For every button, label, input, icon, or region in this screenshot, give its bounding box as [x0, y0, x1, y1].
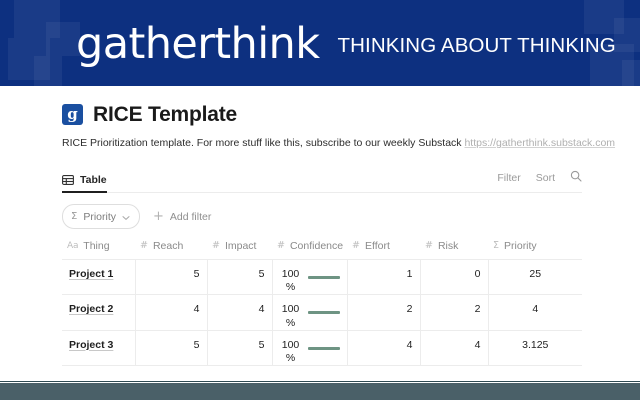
column-header-risk[interactable]: # Risk — [420, 240, 488, 260]
filter-bar: Σ Priority + Add filter — [62, 204, 582, 229]
risk-value: 4 — [428, 331, 481, 351]
filter-button[interactable]: Filter — [497, 172, 520, 184]
cell-risk[interactable]: 0 — [420, 260, 488, 295]
cell-confidence[interactable]: 100 % — [272, 330, 347, 365]
confidence-value: 100 % — [280, 268, 302, 294]
cell-priority[interactable]: 4 — [488, 295, 582, 330]
plus-icon: + — [153, 210, 164, 223]
column-header-priority[interactable]: Σ Priority — [488, 240, 582, 260]
cell-thing[interactable]: Project 1 — [62, 260, 135, 295]
risk-value: 2 — [428, 295, 481, 315]
cell-effort[interactable]: 4 — [347, 330, 420, 365]
column-header-effort[interactable]: # Effort — [347, 240, 420, 260]
footer-bar — [0, 383, 640, 400]
risk-value: 0 — [428, 260, 481, 280]
effort-value: 1 — [355, 260, 413, 280]
substack-link[interactable]: https://gatherthink.substack.com — [464, 137, 615, 149]
confidence-bar-track — [308, 303, 340, 314]
thing-link[interactable]: Project 2 — [69, 295, 128, 315]
thing-link[interactable]: Project 3 — [69, 331, 128, 351]
tab-table[interactable]: Table — [62, 174, 107, 193]
cell-confidence[interactable]: 100 % — [272, 260, 347, 295]
table-row[interactable]: Project 1 5 5 100 % — [62, 260, 582, 295]
table-row[interactable]: Project 3 5 5 100 % — [62, 330, 582, 365]
view-tabs: Table — [62, 173, 107, 192]
impact-value: 5 — [215, 331, 265, 351]
reach-value: 5 — [143, 331, 200, 351]
text-type-icon: Aa — [67, 242, 78, 251]
column-header-impact[interactable]: # Impact — [207, 240, 272, 260]
column-header-reach[interactable]: # Reach — [135, 240, 207, 260]
priority-value: 25 — [496, 260, 576, 280]
cell-thing[interactable]: Project 3 — [62, 330, 135, 365]
priority-value: 3.125 — [496, 331, 576, 351]
thing-link[interactable]: Project 1 — [69, 260, 128, 280]
cell-risk[interactable]: 4 — [420, 330, 488, 365]
cell-impact[interactable]: 5 — [207, 260, 272, 295]
rice-table: Aa Thing # Reach # Impact — [62, 240, 582, 366]
column-label: Confidence — [290, 240, 343, 252]
sort-button[interactable]: Sort — [536, 172, 555, 184]
confidence-value: 100 % — [280, 303, 302, 329]
cell-impact[interactable]: 4 — [207, 295, 272, 330]
page-root: gatherthink THINKING ABOUT THINKING g RI… — [0, 0, 640, 400]
cell-reach[interactable]: 5 — [135, 330, 207, 365]
number-type-icon: # — [140, 241, 148, 251]
table-header-row: Aa Thing # Reach # Impact — [62, 240, 582, 260]
cell-effort[interactable]: 2 — [347, 295, 420, 330]
table-header: Aa Thing # Reach # Impact — [62, 240, 582, 260]
confidence-bar-track — [308, 339, 340, 350]
gatherthink-logo-icon: g — [62, 104, 83, 125]
toolbar-actions: Filter Sort — [497, 169, 582, 192]
filter-chip-label: Priority — [83, 211, 116, 223]
impact-value: 5 — [215, 260, 265, 280]
page-title: RICE Template — [93, 104, 237, 125]
number-type-icon: # — [352, 241, 360, 251]
reach-value: 4 — [143, 295, 200, 315]
sigma-icon: Σ — [71, 212, 77, 222]
column-header-thing[interactable]: Aa Thing — [62, 240, 135, 260]
brand-tagline: THINKING ABOUT THINKING — [338, 34, 616, 58]
view-toolbar: Table Filter Sort — [62, 167, 582, 193]
impact-value: 4 — [215, 295, 265, 315]
page-title-row: g RICE Template — [62, 104, 582, 125]
chevron-down-icon — [122, 208, 130, 226]
confidence-bar-fill — [308, 347, 340, 350]
column-label: Impact — [225, 240, 257, 252]
confidence-bar-track — [308, 268, 340, 279]
cell-effort[interactable]: 1 — [347, 260, 420, 295]
effort-value: 4 — [355, 331, 413, 351]
number-type-icon: # — [212, 241, 220, 251]
column-label: Reach — [153, 240, 183, 252]
reach-value: 5 — [143, 260, 200, 280]
confidence-bar-fill — [308, 276, 340, 279]
site-banner: gatherthink THINKING ABOUT THINKING — [0, 0, 640, 86]
cell-priority[interactable]: 25 — [488, 260, 582, 295]
add-filter-button[interactable]: + Add filter — [153, 210, 211, 223]
confidence-value: 100 % — [280, 339, 302, 365]
effort-value: 2 — [355, 295, 413, 315]
page-description: RICE Prioritization template. For more s… — [62, 136, 582, 150]
filter-chip-priority[interactable]: Σ Priority — [62, 204, 140, 229]
cell-impact[interactable]: 5 — [207, 330, 272, 365]
table-body: Project 1 5 5 100 % — [62, 260, 582, 366]
cell-priority[interactable]: 3.125 — [488, 330, 582, 365]
page-description-text: RICE Prioritization template. For more s… — [62, 137, 464, 149]
footer-divider — [0, 381, 640, 382]
column-label: Effort — [365, 240, 390, 252]
add-filter-label: Add filter — [170, 211, 211, 223]
table-row[interactable]: Project 2 4 4 100 % — [62, 295, 582, 330]
confidence-bar-fill — [308, 311, 340, 314]
cell-confidence[interactable]: 100 % — [272, 295, 347, 330]
cell-thing[interactable]: Project 2 — [62, 295, 135, 330]
number-type-icon: # — [277, 241, 285, 251]
column-header-confidence[interactable]: # Confidence — [272, 240, 347, 260]
column-label: Thing — [83, 240, 109, 252]
table-grid-icon — [62, 174, 74, 186]
column-label: Risk — [438, 240, 458, 252]
cell-risk[interactable]: 2 — [420, 295, 488, 330]
cell-reach[interactable]: 5 — [135, 260, 207, 295]
brand-wordmark: gatherthink — [76, 23, 320, 66]
formula-type-icon: Σ — [493, 241, 499, 251]
cell-reach[interactable]: 4 — [135, 295, 207, 330]
number-type-icon: # — [425, 241, 433, 251]
column-label: Priority — [504, 240, 537, 252]
page-content: g RICE Template RICE Prioritization temp… — [62, 104, 582, 366]
search-icon[interactable] — [570, 169, 582, 187]
tab-table-label: Table — [80, 174, 107, 186]
priority-value: 4 — [496, 295, 576, 315]
